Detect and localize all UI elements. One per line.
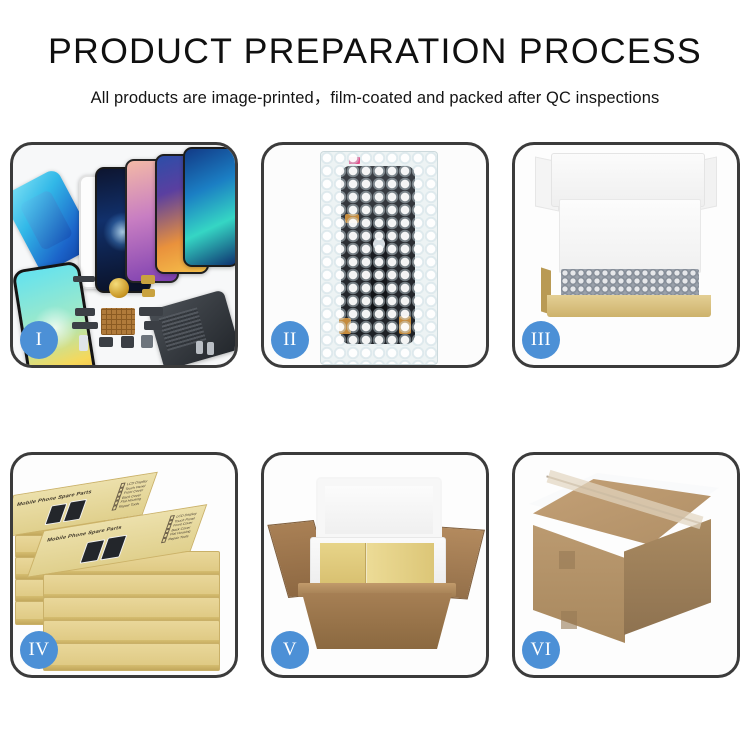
bubble-wrap-bag <box>320 151 438 365</box>
step-panel-5: V <box>261 452 489 678</box>
part-battery <box>79 335 88 351</box>
speaker-component <box>109 278 129 298</box>
box-checklist-front: LCD Display Touch Panel Front Cover Back… <box>161 511 198 543</box>
bubble-texture <box>321 152 437 364</box>
step-panel-6: VI <box>512 452 740 678</box>
part-flex-1 <box>141 275 155 284</box>
part-module <box>144 321 162 330</box>
box-checklist-top: LCD Display Touch Panel Front Cover Back… <box>111 479 148 511</box>
step-badge-4: IV <box>20 631 58 669</box>
page-header: PRODUCT PREPARATION PROCESS All products… <box>0 0 750 108</box>
step-badge-6: VI <box>522 631 560 669</box>
part-camera <box>75 308 95 316</box>
step-badge-2: II <box>271 321 309 359</box>
part-flex-2 <box>142 289 155 297</box>
part-sensor <box>141 335 153 348</box>
page-subtitle: All products are image-printed，film-coat… <box>0 84 750 108</box>
step-badge-1: I <box>20 321 58 359</box>
stacked-box-r5 <box>43 643 220 671</box>
step-panel-1: I <box>10 142 238 368</box>
step-badge-3: III <box>522 321 560 359</box>
foam-lid <box>316 477 442 543</box>
yellow-boxes-group <box>320 543 434 585</box>
page-title: PRODUCT PREPARATION PROCESS <box>0 34 750 71</box>
part-button <box>121 336 134 348</box>
phone-screen-teal <box>183 147 235 267</box>
carton-handle-tab-top <box>559 551 575 569</box>
step-badge-5: V <box>271 631 309 669</box>
step-panel-4: Mobile Phone Spare Parts LCD Display Tou… <box>10 452 238 678</box>
process-steps-grid: I II <box>10 142 740 678</box>
part-bracket <box>139 307 163 316</box>
part-vibrator <box>99 337 113 347</box>
part-screwdriver-bit <box>196 341 203 354</box>
carton-left-face <box>533 525 625 643</box>
part-screwdriver-bit-2 <box>207 342 214 355</box>
step-panel-3: III <box>512 142 740 368</box>
yellow-box-col-5 <box>356 543 366 585</box>
kraft-box-front <box>547 295 711 317</box>
product-preparation-page: PRODUCT PREPARATION PROCESS All products… <box>0 0 750 750</box>
part-connector <box>72 322 98 329</box>
carton-handle-tab-bottom <box>561 611 577 629</box>
white-foam-sheet <box>559 199 701 273</box>
screw-grid-tray <box>101 308 135 335</box>
part-strip-1 <box>73 276 95 282</box>
carton-body <box>302 593 452 649</box>
step-panel-2: II <box>261 142 489 368</box>
